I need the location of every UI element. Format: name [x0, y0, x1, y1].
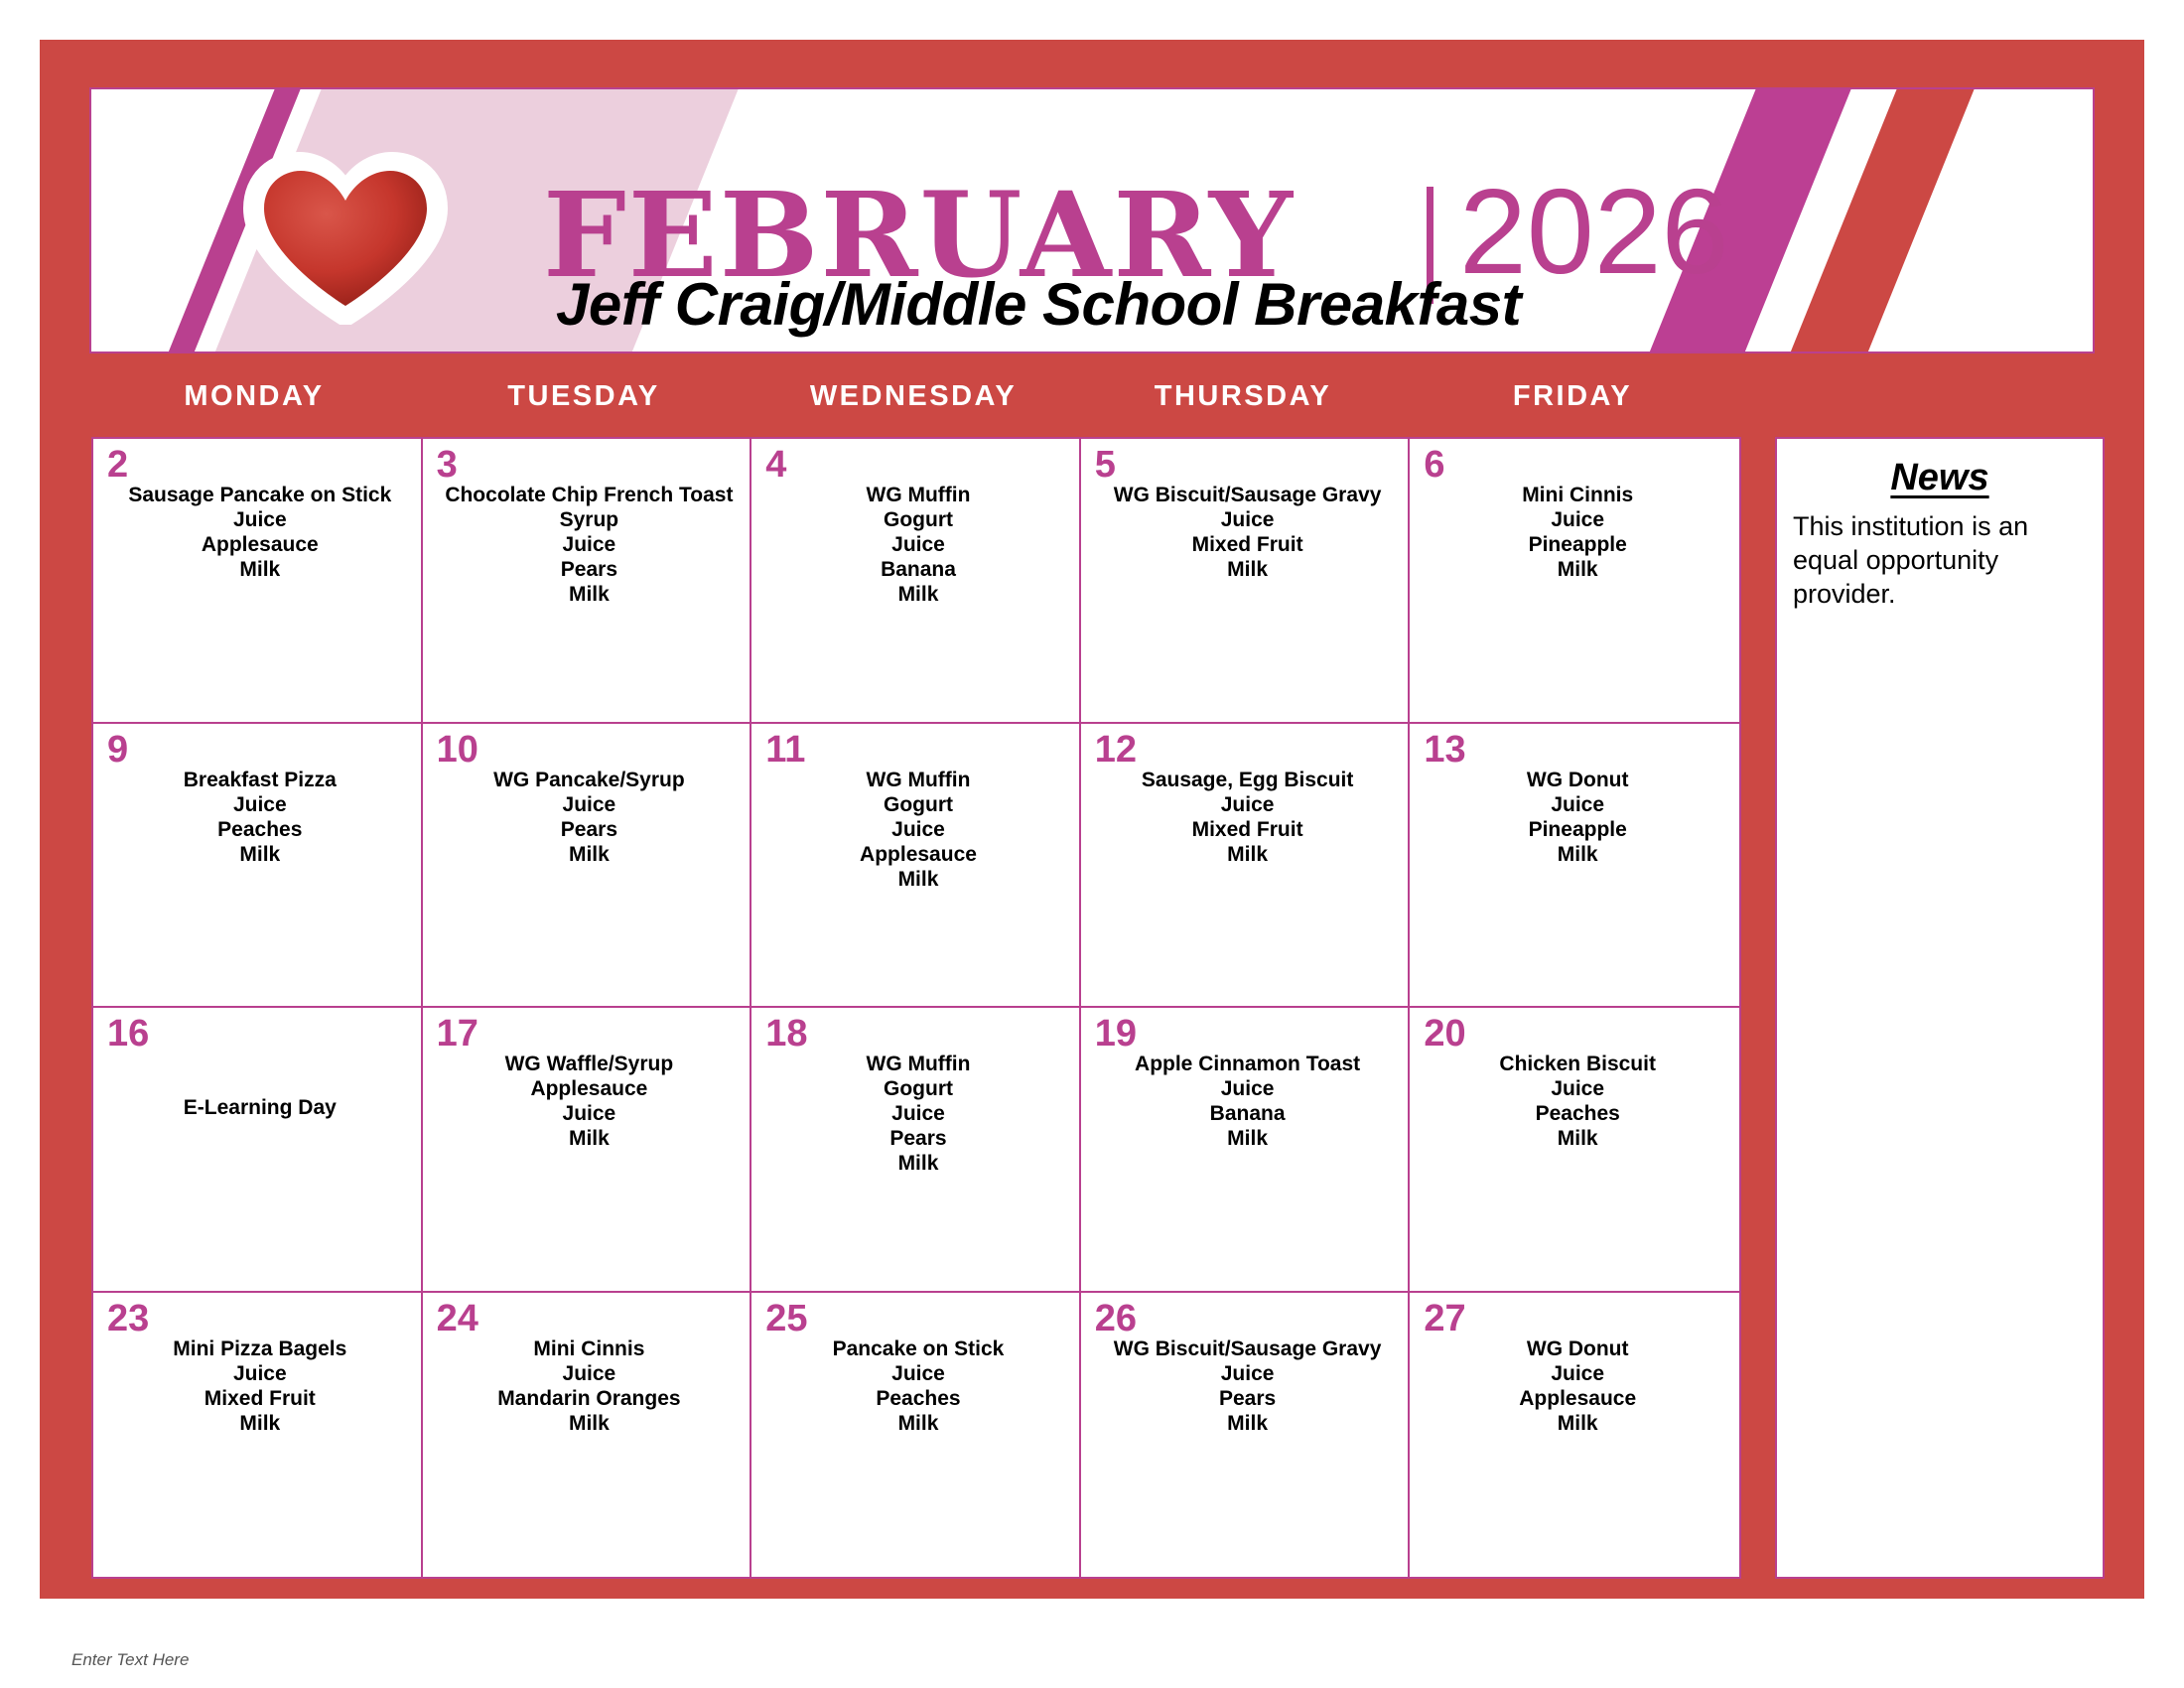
- menu-item: Juice: [439, 1101, 741, 1126]
- menu-item: Syrup: [439, 507, 741, 532]
- menu-item: Juice: [767, 1361, 1069, 1386]
- day-number: 6: [1424, 445, 1444, 487]
- day-menu-list: WG MuffinGogurtJuiceBananaMilk: [767, 483, 1069, 607]
- menu-item: Juice: [439, 1361, 741, 1386]
- day-number: 27: [1424, 1299, 1465, 1340]
- calendar-day-cell[interactable]: 5WG Biscuit/Sausage GravyJuiceMixed Frui…: [1081, 439, 1411, 724]
- menu-item: WG Pancake/Syrup: [439, 768, 741, 792]
- day-menu-list: E-Learning Day: [109, 1095, 411, 1120]
- menu-item: Peaches: [1426, 1101, 1729, 1126]
- weekday-friday: FRIDAY: [1408, 373, 1737, 431]
- menu-item: Applesauce: [439, 1076, 741, 1101]
- day-menu-list: Mini Pizza BagelsJuiceMixed FruitMilk: [109, 1336, 411, 1436]
- calendar-day-cell[interactable]: 11WG MuffinGogurtJuiceApplesauceMilk: [751, 724, 1081, 1009]
- day-menu-list: WG Waffle/SyrupApplesauceJuiceMilk: [439, 1052, 741, 1151]
- menu-item: Juice: [439, 792, 741, 817]
- calendar-day-cell[interactable]: 10WG Pancake/SyrupJuicePearsMilk: [423, 724, 752, 1009]
- day-menu-list: Sausage, Egg BiscuitJuiceMixed FruitMilk: [1097, 768, 1399, 867]
- menu-item: Mixed Fruit: [1097, 532, 1399, 557]
- menu-item: Juice: [1097, 1076, 1399, 1101]
- calendar-day-cell[interactable]: 17WG Waffle/SyrupApplesauceJuiceMilk: [423, 1008, 752, 1293]
- calendar-day-cell[interactable]: 13WG DonutJuicePineappleMilk: [1410, 724, 1739, 1009]
- menu-item: Milk: [109, 842, 411, 867]
- menu-item: Milk: [767, 867, 1069, 892]
- menu-item: WG Biscuit/Sausage Gravy: [1097, 1336, 1399, 1361]
- calendar-day-cell[interactable]: 23Mini Pizza BagelsJuiceMixed FruitMilk: [93, 1293, 423, 1578]
- menu-item: Milk: [439, 582, 741, 607]
- day-number: 13: [1424, 730, 1465, 772]
- day-number: 3: [437, 445, 458, 487]
- calendar-day-cell[interactable]: 9Breakfast PizzaJuicePeachesMilk: [93, 724, 423, 1009]
- menu-item: Juice: [1097, 1361, 1399, 1386]
- news-body-text: This institution is an equal opportunity…: [1793, 509, 2087, 611]
- calendar-day-cell[interactable]: 20Chicken BiscuitJuicePeachesMilk: [1410, 1008, 1739, 1293]
- menu-item: Milk: [1426, 1126, 1729, 1151]
- menu-item: WG Waffle/Syrup: [439, 1052, 741, 1076]
- menu-item: WG Muffin: [767, 483, 1069, 507]
- menu-item: Juice: [767, 532, 1069, 557]
- calendar-page: FEBRUARY 2026 Jeff Craig/Middle School B…: [0, 0, 2184, 1688]
- menu-item: Milk: [439, 842, 741, 867]
- weekday-thursday: THURSDAY: [1078, 373, 1408, 431]
- news-heading: News: [1793, 457, 2087, 499]
- menu-item: Mini Pizza Bagels: [109, 1336, 411, 1361]
- menu-item: Milk: [1426, 557, 1729, 582]
- menu-item: Applesauce: [109, 532, 411, 557]
- day-menu-list: Mini CinnisJuiceMandarin OrangesMilk: [439, 1336, 741, 1436]
- menu-item: Milk: [1426, 1411, 1729, 1436]
- menu-item: Juice: [1426, 792, 1729, 817]
- footer-placeholder-text[interactable]: Enter Text Here: [71, 1650, 189, 1670]
- menu-item: Gogurt: [767, 792, 1069, 817]
- menu-item: Breakfast Pizza: [109, 768, 411, 792]
- day-number: 18: [765, 1014, 807, 1055]
- menu-item: Juice: [439, 532, 741, 557]
- day-number: 12: [1095, 730, 1137, 772]
- menu-item: Milk: [767, 1411, 1069, 1436]
- menu-item: Gogurt: [767, 507, 1069, 532]
- day-number: 20: [1424, 1014, 1465, 1055]
- weekday-monday: MONDAY: [89, 373, 419, 431]
- menu-item: Gogurt: [767, 1076, 1069, 1101]
- menu-item: Peaches: [767, 1386, 1069, 1411]
- menu-item: Milk: [1426, 842, 1729, 867]
- menu-item: Juice: [767, 1101, 1069, 1126]
- menu-item: Pancake on Stick: [767, 1336, 1069, 1361]
- calendar-day-cell[interactable]: 24Mini CinnisJuiceMandarin OrangesMilk: [423, 1293, 752, 1578]
- day-menu-list: Sausage Pancake on StickJuiceApplesauceM…: [109, 483, 411, 582]
- calendar-day-cell[interactable]: 12Sausage, Egg BiscuitJuiceMixed FruitMi…: [1081, 724, 1411, 1009]
- day-menu-list: Chocolate Chip French ToastSyrupJuicePea…: [439, 483, 741, 607]
- day-menu-list: Breakfast PizzaJuicePeachesMilk: [109, 768, 411, 867]
- menu-item: Milk: [1097, 557, 1399, 582]
- day-number: 25: [765, 1299, 807, 1340]
- menu-item: WG Donut: [1426, 1336, 1729, 1361]
- day-number: 4: [765, 445, 786, 487]
- heart-icon: [242, 151, 449, 325]
- menu-item: Mixed Fruit: [109, 1386, 411, 1411]
- day-menu-list: Pancake on StickJuicePeachesMilk: [767, 1336, 1069, 1436]
- menu-item: Mixed Fruit: [1097, 817, 1399, 842]
- calendar-grid: 2Sausage Pancake on StickJuiceApplesauce…: [91, 437, 1741, 1579]
- menu-item: Pineapple: [1426, 817, 1729, 842]
- day-number: 24: [437, 1299, 478, 1340]
- menu-item: Milk: [1097, 842, 1399, 867]
- menu-item: Pears: [767, 1126, 1069, 1151]
- weekday-wednesday: WEDNESDAY: [749, 373, 1078, 431]
- menu-item: WG Donut: [1426, 768, 1729, 792]
- calendar-day-cell[interactable]: 19Apple Cinnamon ToastJuiceBananaMilk: [1081, 1008, 1411, 1293]
- menu-item: Juice: [109, 507, 411, 532]
- menu-item: Juice: [1097, 792, 1399, 817]
- banner-subtitle: Jeff Craig/Middle School Breakfast: [556, 270, 1521, 339]
- day-menu-list: WG MuffinGogurtJuiceApplesauceMilk: [767, 768, 1069, 892]
- day-menu-list: WG Biscuit/Sausage GravyJuiceMixed Fruit…: [1097, 483, 1399, 582]
- day-menu-list: WG Pancake/SyrupJuicePearsMilk: [439, 768, 741, 867]
- menu-item: Milk: [767, 582, 1069, 607]
- menu-item: Juice: [1097, 507, 1399, 532]
- menu-item: Milk: [767, 1151, 1069, 1176]
- weekday-tuesday: TUESDAY: [419, 373, 749, 431]
- menu-item: Juice: [1426, 507, 1729, 532]
- menu-item: WG Biscuit/Sausage Gravy: [1097, 483, 1399, 507]
- weekday-header-row: MONDAY TUESDAY WEDNESDAY THURSDAY FRIDAY: [89, 373, 1737, 431]
- menu-item: Milk: [439, 1126, 741, 1151]
- day-menu-list: WG Biscuit/Sausage GravyJuicePearsMilk: [1097, 1336, 1399, 1436]
- day-number: 11: [765, 730, 805, 772]
- menu-item: Juice: [1426, 1361, 1729, 1386]
- menu-item: Apple Cinnamon Toast: [1097, 1052, 1399, 1076]
- menu-item: Applesauce: [767, 842, 1069, 867]
- menu-item: Banana: [767, 557, 1069, 582]
- menu-item: Milk: [109, 557, 411, 582]
- day-number: 2: [107, 445, 128, 487]
- menu-item: Mandarin Oranges: [439, 1386, 741, 1411]
- day-menu-list: WG DonutJuicePineappleMilk: [1426, 768, 1729, 867]
- day-menu-list: WG MuffinGogurtJuicePearsMilk: [767, 1052, 1069, 1176]
- news-panel: News This institution is an equal opport…: [1775, 437, 2105, 1579]
- day-number: 16: [107, 1014, 149, 1055]
- menu-item: WG Muffin: [767, 768, 1069, 792]
- day-number: 17: [437, 1014, 478, 1055]
- menu-item: Sausage Pancake on Stick: [109, 483, 411, 507]
- menu-item: Pears: [1097, 1386, 1399, 1411]
- day-menu-list: Apple Cinnamon ToastJuiceBananaMilk: [1097, 1052, 1399, 1151]
- menu-item: Juice: [109, 1361, 411, 1386]
- menu-item: Banana: [1097, 1101, 1399, 1126]
- menu-item: Sausage, Egg Biscuit: [1097, 768, 1399, 792]
- menu-item: Chicken Biscuit: [1426, 1052, 1729, 1076]
- calendar-day-cell[interactable]: 2Sausage Pancake on StickJuiceApplesauce…: [93, 439, 423, 724]
- day-menu-list: WG DonutJuiceApplesauceMilk: [1426, 1336, 1729, 1436]
- day-number: 10: [437, 730, 478, 772]
- calendar-day-cell[interactable]: 18WG MuffinGogurtJuicePearsMilk: [751, 1008, 1081, 1293]
- calendar-day-cell[interactable]: 4WG MuffinGogurtJuiceBananaMilk: [751, 439, 1081, 724]
- menu-item: Juice: [767, 817, 1069, 842]
- menu-item: Pears: [439, 557, 741, 582]
- calendar-day-cell[interactable]: 27WG DonutJuiceApplesauceMilk: [1410, 1293, 1739, 1578]
- day-number: 23: [107, 1299, 149, 1340]
- menu-item: Chocolate Chip French Toast: [439, 483, 741, 507]
- menu-item: Peaches: [109, 817, 411, 842]
- menu-item: Milk: [1097, 1411, 1399, 1436]
- menu-item: Pears: [439, 817, 741, 842]
- calendar-day-cell[interactable]: 6Mini CinnisJuicePineappleMilk: [1410, 439, 1739, 724]
- menu-item: Mini Cinnis: [439, 1336, 741, 1361]
- menu-item: E-Learning Day: [109, 1095, 411, 1120]
- calendar-day-cell[interactable]: 25Pancake on StickJuicePeachesMilk: [751, 1293, 1081, 1578]
- menu-item: Milk: [439, 1411, 741, 1436]
- day-number: 9: [107, 730, 128, 772]
- menu-item: WG Muffin: [767, 1052, 1069, 1076]
- day-number: 5: [1095, 445, 1116, 487]
- menu-item: Mini Cinnis: [1426, 483, 1729, 507]
- day-number: 26: [1095, 1299, 1137, 1340]
- calendar-day-cell[interactable]: 3Chocolate Chip French ToastSyrupJuicePe…: [423, 439, 752, 724]
- calendar-day-cell[interactable]: 16E-Learning Day: [93, 1008, 423, 1293]
- menu-item: Juice: [109, 792, 411, 817]
- menu-item: Pineapple: [1426, 532, 1729, 557]
- menu-item: Milk: [109, 1411, 411, 1436]
- calendar-day-cell[interactable]: 26WG Biscuit/Sausage GravyJuicePearsMilk: [1081, 1293, 1411, 1578]
- day-menu-list: Chicken BiscuitJuicePeachesMilk: [1426, 1052, 1729, 1151]
- menu-item: Juice: [1426, 1076, 1729, 1101]
- menu-item: Applesauce: [1426, 1386, 1729, 1411]
- menu-item: Milk: [1097, 1126, 1399, 1151]
- day-menu-list: Mini CinnisJuicePineappleMilk: [1426, 483, 1729, 582]
- day-number: 19: [1095, 1014, 1137, 1055]
